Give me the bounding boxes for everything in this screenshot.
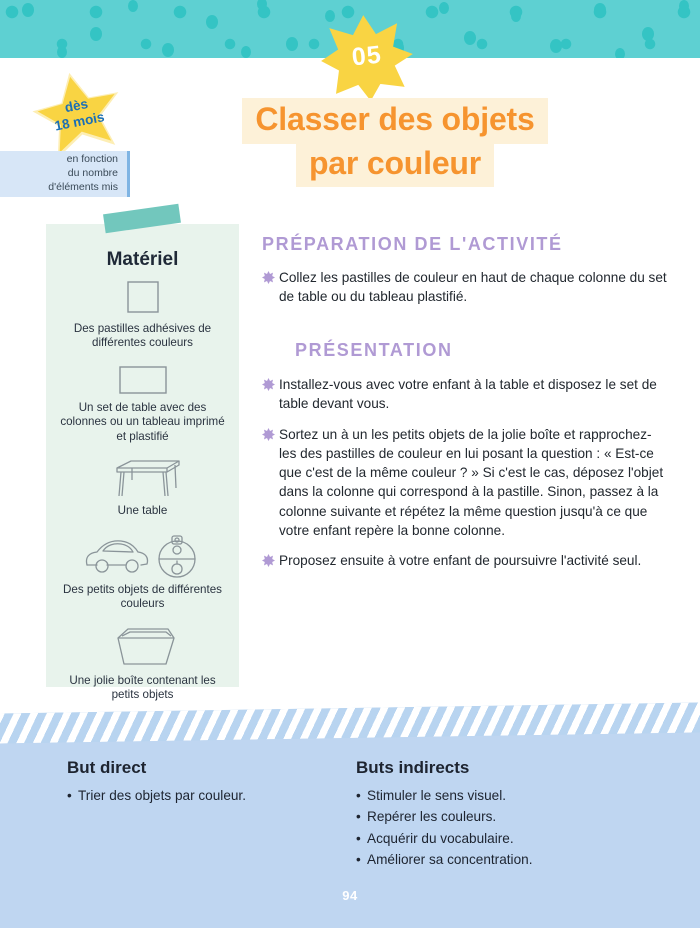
list-item: Installez-vous avec votre enfant à la ta…: [262, 375, 668, 414]
placemat-rectangle-icon: [46, 363, 239, 397]
table-icon: [46, 456, 239, 500]
material-item: Des pastilles adhésives de différentes c…: [46, 278, 239, 351]
bullet-dot-icon: •: [356, 828, 367, 849]
material-item-caption: Une jolie boîte contenant les petits obj…: [46, 674, 239, 703]
material-item-caption: Des petits objets de différentes couleur…: [46, 583, 239, 612]
list-item: • Acquérir du vocabulaire.: [356, 828, 656, 849]
list-item-text: Améliorer sa concentration.: [367, 849, 532, 870]
flower-bullet-icon: [262, 425, 279, 541]
page-title-line1: Classer des objets: [242, 98, 547, 144]
list-item-text: Installez-vous avec votre enfant à la ta…: [279, 375, 668, 414]
activity-number-text: 05: [313, 7, 420, 109]
storage-box-icon: [46, 624, 239, 670]
bullet-dot-icon: •: [356, 806, 367, 827]
direct-goal-column: But direct • Trier des objets par couleu…: [67, 758, 337, 806]
list-item: • Trier des objets par couleur.: [67, 785, 337, 806]
list-item-text: Trier des objets par couleur.: [78, 785, 246, 806]
flower-bullet-icon: [262, 375, 279, 414]
list-item-text: Acquérir du vocabulaire.: [367, 828, 514, 849]
list-item: • Stimuler le sens visuel.: [356, 785, 656, 806]
variant-note-line1: en fonction: [67, 153, 118, 167]
direct-goal-heading: But direct: [67, 758, 337, 778]
bullet-dot-icon: •: [356, 785, 367, 806]
flower-bullet-icon: [262, 551, 279, 570]
material-item: Une table: [46, 456, 239, 518]
variant-note-tab: en fonction du nombre d'éléments mis: [0, 151, 130, 197]
bullet-dot-icon: •: [356, 849, 367, 870]
list-item: • Repérer les couleurs.: [356, 806, 656, 827]
material-item: Un set de table avec des colonnes ou un …: [46, 363, 239, 444]
indirect-goals-column: Buts indirects • Stimuler le sens visuel…: [356, 758, 656, 871]
list-item-text: Repérer les couleurs.: [367, 806, 496, 827]
material-item-caption: Des pastilles adhésives de différentes c…: [46, 322, 239, 351]
activity-number-badge: 05: [318, 12, 416, 104]
preparation-list: Collez les pastilles de couleur en haut …: [262, 268, 668, 318]
flower-bullet-icon: [262, 268, 279, 307]
sticker-square-icon: [46, 278, 239, 318]
age-badge-line2: 18 mois: [53, 109, 105, 135]
material-item-caption: Une table: [46, 504, 239, 518]
page-title-line2: par couleur: [296, 142, 494, 188]
list-item-text: Proposez ensuite à votre enfant de pours…: [279, 551, 641, 570]
indirect-goals-heading: Buts indirects: [356, 758, 656, 778]
presentation-heading: PRÉSENTATION: [295, 340, 453, 361]
list-item-text: Stimuler le sens visuel.: [367, 785, 506, 806]
bullet-dot-icon: •: [67, 785, 78, 806]
variant-note-line2: du nombre: [68, 167, 118, 181]
list-item: Proposez ensuite à votre enfant de pours…: [262, 551, 668, 570]
list-item-text: Collez les pastilles de couleur en haut …: [279, 268, 668, 307]
list-item: Sortez un à un les petits objets de la j…: [262, 425, 668, 541]
page-number: 94: [0, 888, 700, 903]
presentation-list: Installez-vous avec votre enfant à la ta…: [262, 375, 668, 582]
list-item: Collez les pastilles de couleur en haut …: [262, 268, 668, 307]
material-heading: Matériel: [46, 249, 239, 271]
age-badge: dès 18 mois: [30, 68, 126, 160]
material-item: Une jolie boîte contenant les petits obj…: [46, 624, 239, 703]
list-item: • Améliorer sa concentration.: [356, 849, 656, 870]
material-item-caption: Un set de table avec des colonnes ou un …: [46, 401, 239, 444]
material-list: Des pastilles adhésives de différentes c…: [46, 278, 239, 715]
toy-car-and-rattle-icon: [46, 531, 239, 579]
page-title: Classer des objets par couleur: [205, 98, 585, 187]
variant-note-line3: d'éléments mis: [48, 181, 118, 195]
material-item: Des petits objets de différentes couleur…: [46, 531, 239, 612]
preparation-heading: PRÉPARATION DE L'ACTIVITÉ: [262, 234, 563, 255]
list-item-text: Sortez un à un les petits objets de la j…: [279, 425, 668, 541]
